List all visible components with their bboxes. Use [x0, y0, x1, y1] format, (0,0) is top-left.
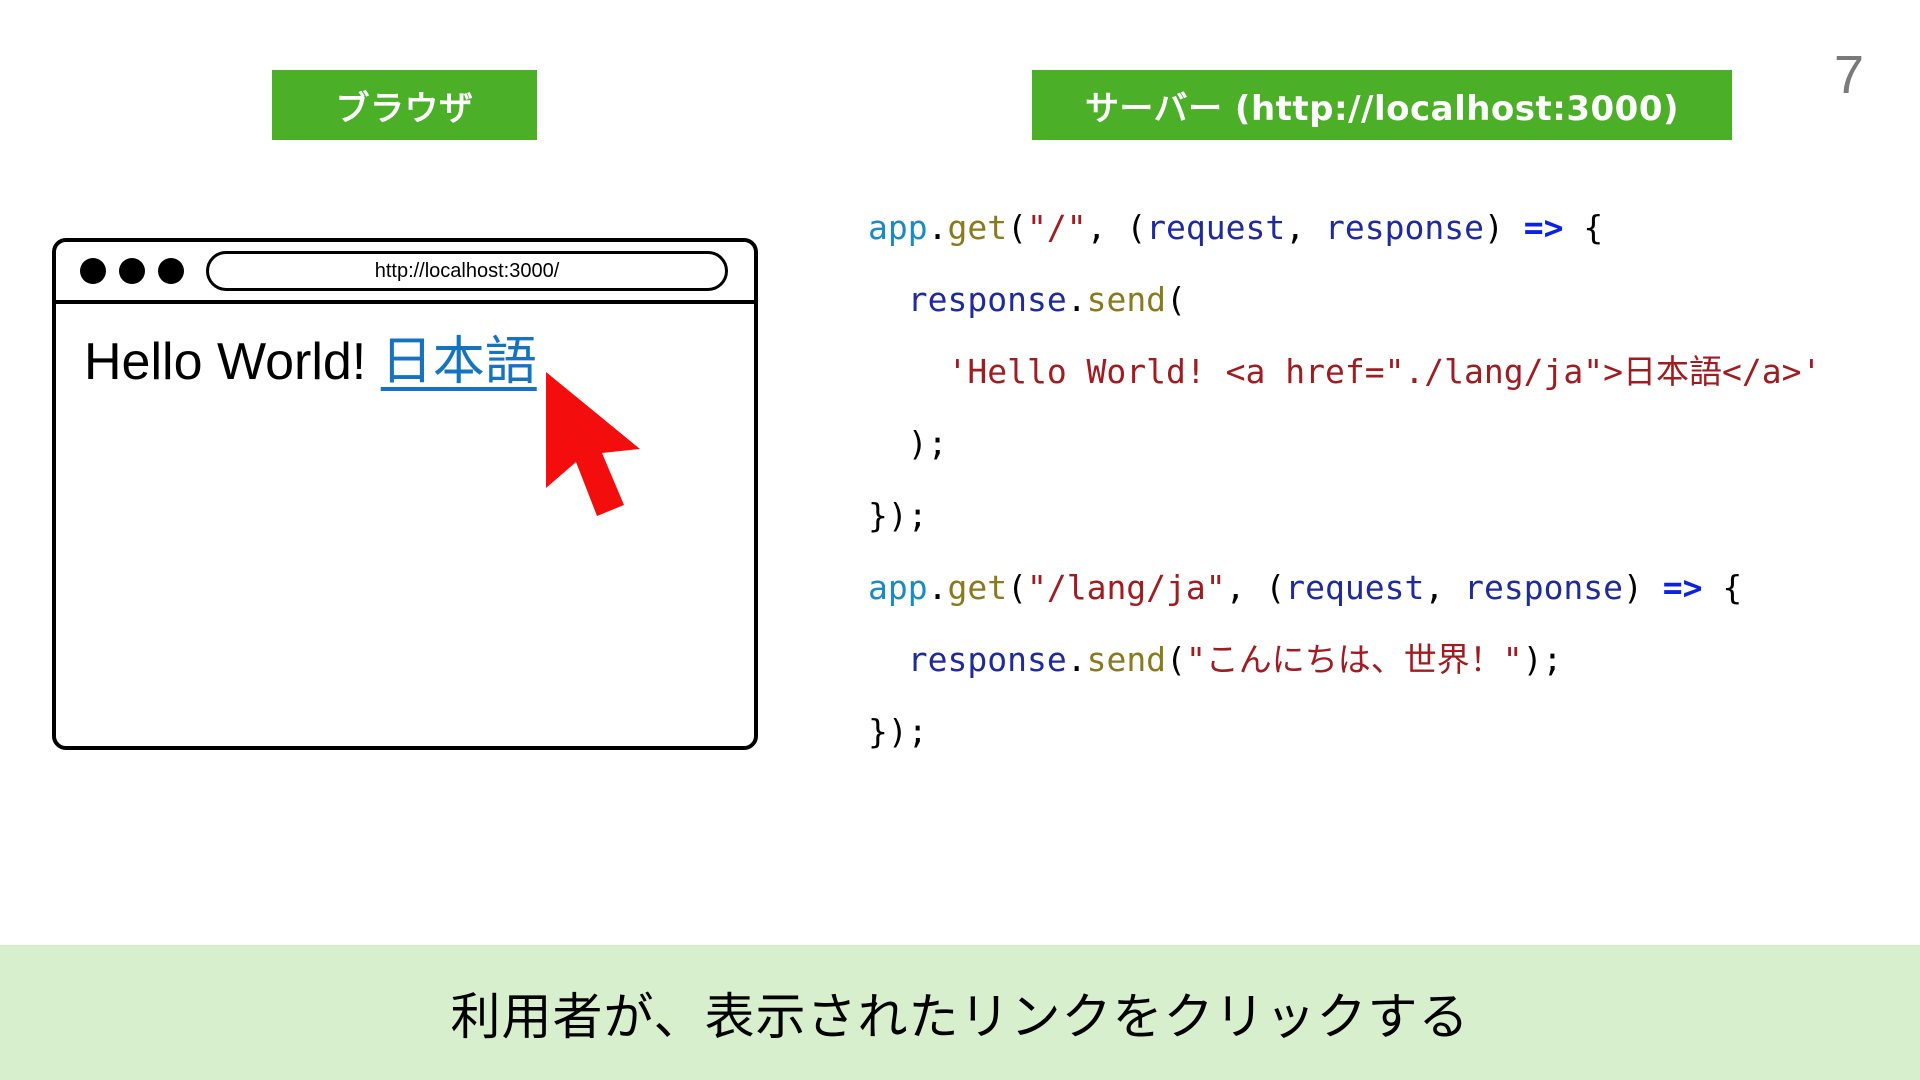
- code-token-punc: .: [1067, 280, 1087, 319]
- page-greeting-text: Hello World!: [84, 333, 381, 391]
- code-token-punc: ): [1623, 568, 1663, 607]
- code-token-punc: );: [1523, 640, 1563, 679]
- browser-panel-title: ブラウザ: [272, 70, 537, 140]
- japanese-language-link[interactable]: 日本語: [381, 333, 537, 391]
- code-token-punc: , (: [1226, 568, 1286, 607]
- code-token-punc: ,: [1285, 208, 1325, 247]
- browser-chrome-bar: http://localhost:3000/: [56, 242, 754, 304]
- code-token-punc: .: [928, 208, 948, 247]
- code-token-param: response: [908, 640, 1067, 679]
- code-line: );: [868, 408, 1821, 480]
- code-token-punc: (: [1007, 208, 1027, 247]
- browser-viewport: Hello World! 日本語: [56, 304, 754, 746]
- code-token-punc: ): [1484, 208, 1524, 247]
- code-token-fn: send: [1087, 280, 1166, 319]
- server-panel-title: サーバー (http://localhost:3000): [1032, 70, 1732, 140]
- code-token-punc: [868, 640, 908, 679]
- code-token-param: request: [1285, 568, 1424, 607]
- code-token-fn: get: [947, 568, 1007, 607]
- code-token-param: request: [1146, 208, 1285, 247]
- code-line: response.send("こんにちは、世界！");: [868, 624, 1821, 696]
- code-token-punc: [868, 352, 947, 391]
- code-token-obj: app: [868, 208, 928, 247]
- caption-band: 利用者が、表示されたリンクをクリックする: [0, 945, 1920, 1080]
- url-bar[interactable]: http://localhost:3000/: [206, 251, 728, 291]
- code-line: });: [868, 480, 1821, 552]
- code-token-arrow: =>: [1524, 208, 1564, 247]
- code-token-punc: );: [868, 424, 947, 463]
- server-code-block: app.get("/", (request, response) => { re…: [868, 192, 1821, 768]
- code-token-punc: (: [1166, 280, 1186, 319]
- code-token-punc: .: [1067, 640, 1087, 679]
- rendered-page-text: Hello World! 日本語: [84, 330, 726, 395]
- caption-text: 利用者が、表示されたリンクをクリックする: [451, 977, 1470, 1049]
- code-token-param: response: [908, 280, 1067, 319]
- browser-window-mockup: http://localhost:3000/ Hello World! 日本語: [52, 238, 758, 750]
- code-token-punc: , (: [1087, 208, 1147, 247]
- code-token-punc: {: [1703, 568, 1743, 607]
- code-line: app.get("/lang/ja", (request, response) …: [868, 552, 1821, 624]
- code-line: });: [868, 696, 1821, 768]
- code-token-param: response: [1325, 208, 1484, 247]
- code-line: response.send(: [868, 264, 1821, 336]
- code-token-punc: (: [1166, 640, 1186, 679]
- code-token-arrow: =>: [1663, 568, 1703, 607]
- code-token-obj: app: [868, 568, 928, 607]
- url-text: http://localhost:3000/: [375, 260, 560, 283]
- code-token-str: "こんにちは、世界！": [1186, 640, 1523, 679]
- code-token-punc: .: [928, 568, 948, 607]
- code-token-punc: ,: [1424, 568, 1464, 607]
- code-token-str: 'Hello World! <a href="./lang/ja">日本語</a…: [947, 352, 1821, 391]
- code-token-punc: (: [1007, 568, 1027, 607]
- code-token-punc: {: [1563, 208, 1603, 247]
- code-token-punc: });: [868, 496, 928, 535]
- slide-number: 7: [1834, 48, 1864, 102]
- code-token-param: response: [1464, 568, 1623, 607]
- code-token-punc: });: [868, 712, 928, 751]
- code-token-fn: send: [1087, 640, 1166, 679]
- code-token-str: "/": [1027, 208, 1087, 247]
- code-line: app.get("/", (request, response) => {: [868, 192, 1821, 264]
- traffic-light-dots: [80, 258, 184, 284]
- code-line: 'Hello World! <a href="./lang/ja">日本語</a…: [868, 336, 1821, 408]
- minimize-dot-icon[interactable]: [119, 258, 145, 284]
- maximize-dot-icon[interactable]: [158, 258, 184, 284]
- close-dot-icon[interactable]: [80, 258, 106, 284]
- code-token-punc: [868, 280, 908, 319]
- code-token-str: "/lang/ja": [1027, 568, 1226, 607]
- code-token-fn: get: [947, 208, 1007, 247]
